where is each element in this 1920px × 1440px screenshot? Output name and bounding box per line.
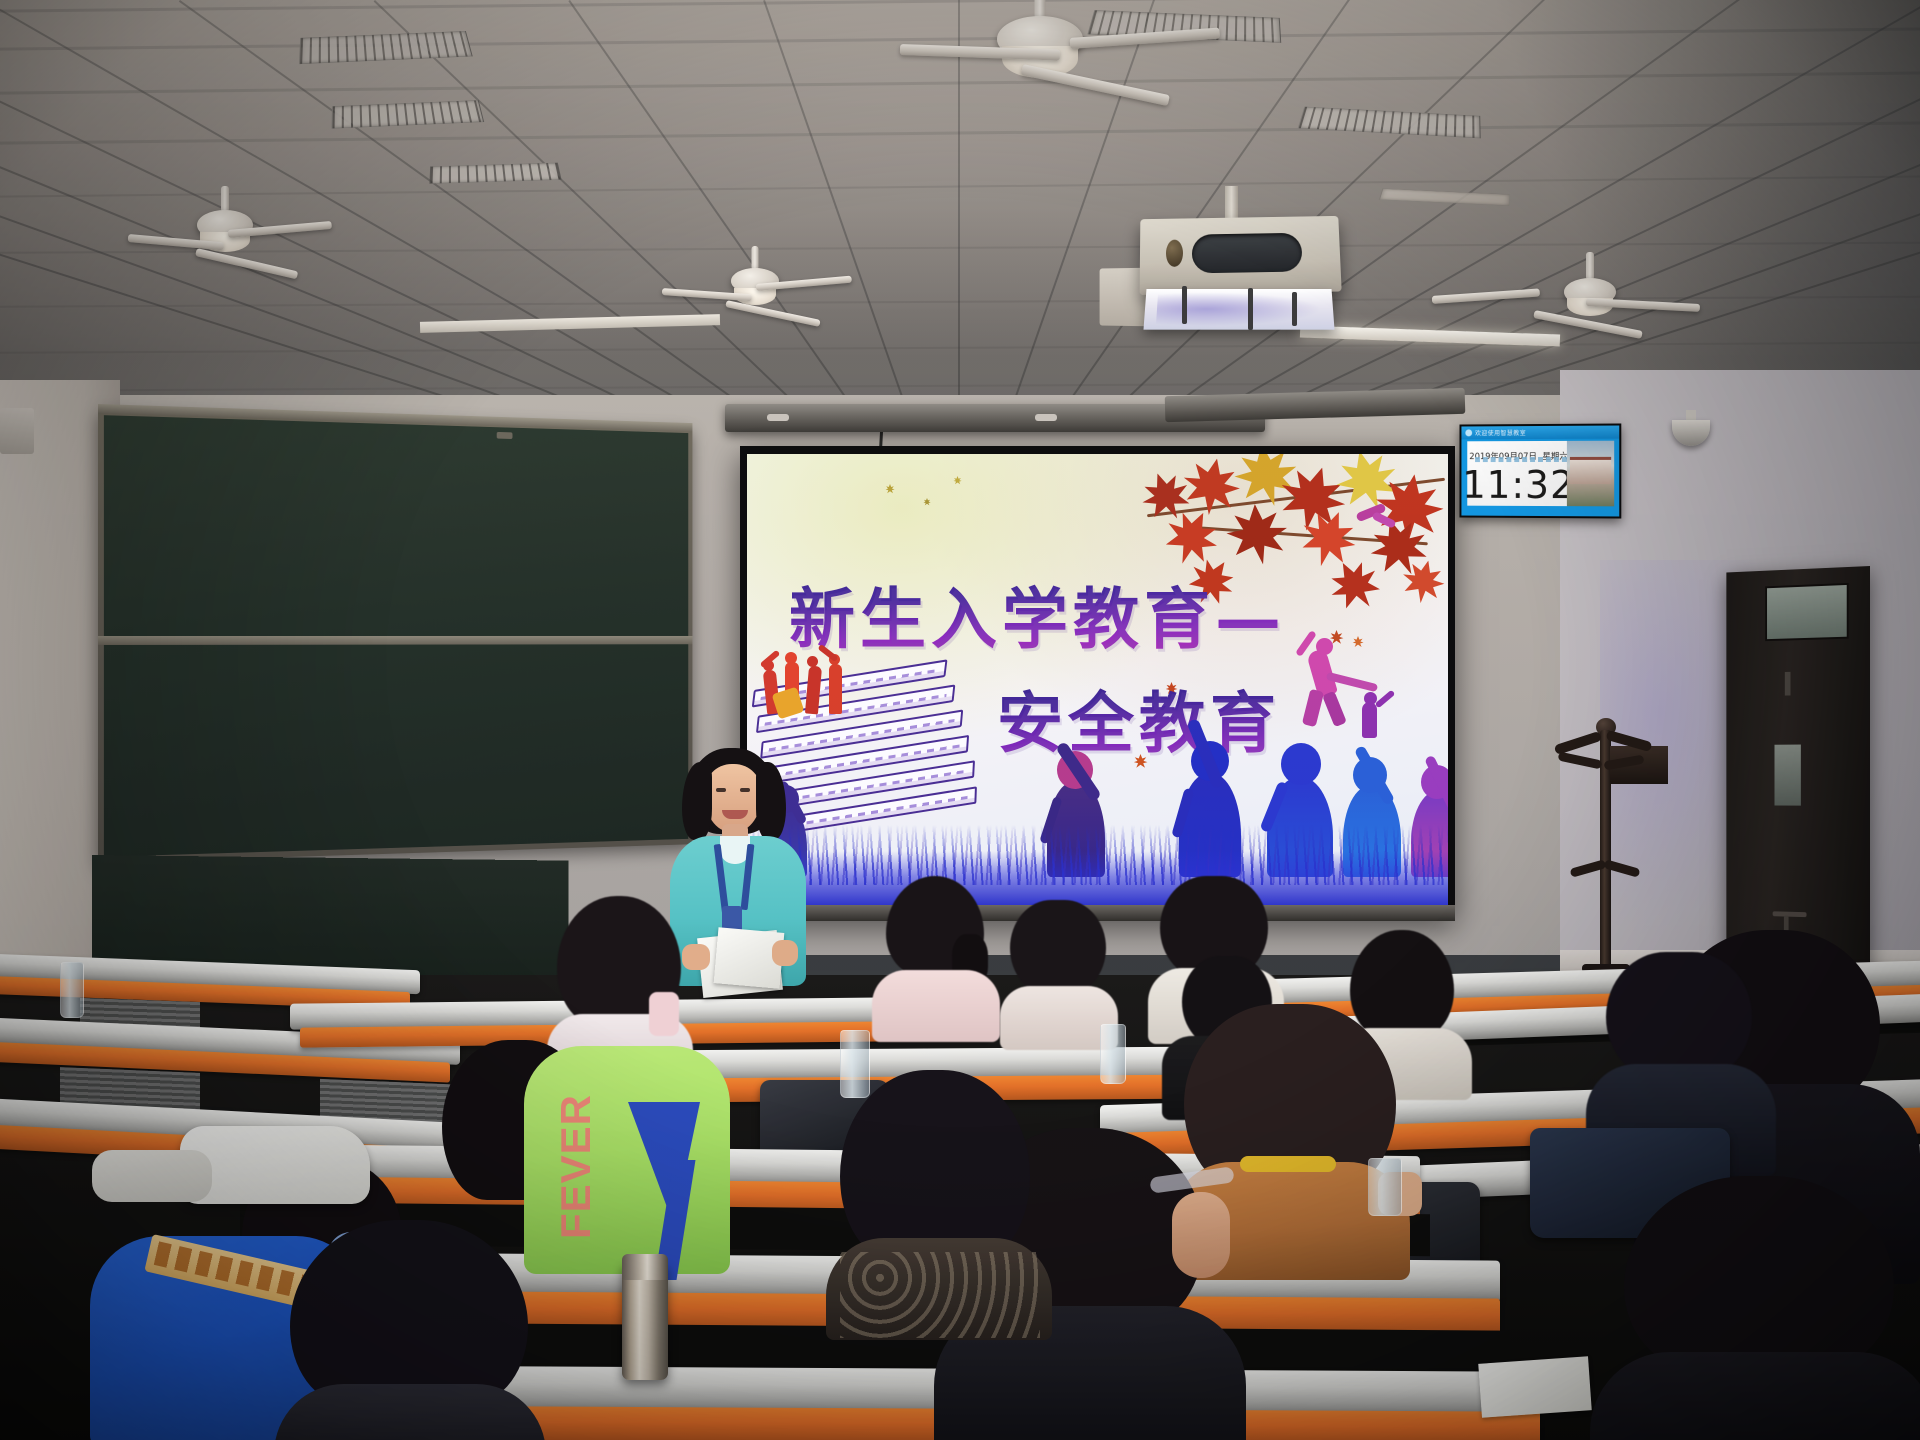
display-ticker	[1475, 457, 1574, 462]
display-photo	[1567, 441, 1614, 507]
projector-pole	[1225, 186, 1238, 220]
projector-lens-icon	[1166, 240, 1183, 267]
projector-vent-window	[1192, 233, 1303, 274]
projector-body	[1143, 289, 1334, 330]
display-logo-icon	[1465, 429, 1472, 436]
chalkboard-clip	[497, 432, 513, 439]
door-hinge	[1785, 672, 1791, 696]
small-leaf	[953, 476, 962, 485]
chalkboard	[98, 408, 692, 863]
door-viewport-panel	[1775, 745, 1801, 806]
student-top	[274, 1384, 546, 1440]
pink-bird-figure	[1346, 494, 1408, 560]
door-handle[interactable]	[1773, 911, 1807, 917]
ceiling-fan	[870, 0, 1210, 80]
slide-title-line-1: 新生入学教育—	[789, 566, 1286, 662]
display-clock-panel: 2019年09月07日 星期六 11:32	[1467, 441, 1570, 506]
floral-pattern	[840, 1252, 1040, 1338]
projector-bracket	[1182, 286, 1187, 324]
water-bottle	[1100, 1024, 1126, 1084]
student-ear-face	[1172, 1192, 1230, 1278]
projector-housing	[1140, 216, 1342, 295]
presenter-hand	[772, 940, 798, 966]
display-header-text: 欢迎使用智慧教室	[1475, 428, 1526, 437]
projector-bracket	[1248, 288, 1253, 330]
red-figures-illustration	[761, 650, 871, 720]
ceiling-fan	[100, 190, 350, 270]
small-leaf	[923, 498, 931, 506]
display-time: 11:32	[1462, 466, 1575, 504]
student-bottom-right	[1600, 1176, 1920, 1440]
presentation-slide: 新生入学教育— 安全教育	[747, 454, 1448, 907]
water-bottle	[60, 962, 84, 1018]
student-top	[1590, 1352, 1920, 1440]
student-top	[872, 970, 1000, 1042]
wall-speaker-icon	[0, 408, 34, 454]
student-silhouettes	[747, 722, 1448, 907]
door-transom-window	[1765, 583, 1848, 641]
display-header: 欢迎使用智慧教室	[1461, 426, 1619, 440]
coat-hook	[1558, 752, 1603, 770]
projection-screen: 新生入学教育— 安全教育	[740, 446, 1455, 916]
handout-papers	[1478, 1356, 1591, 1418]
chalkboard-rail	[98, 636, 692, 645]
ceiling-fan	[640, 252, 870, 322]
student-bottom-left	[290, 1220, 540, 1440]
yellow-lanyard	[1240, 1156, 1336, 1172]
ceiling-fan	[1470, 262, 1710, 332]
classroom-photo: 新生入学教育— 安全教育	[0, 0, 1920, 1440]
student-ponytail	[872, 876, 1002, 1036]
projector-bracket	[1292, 292, 1297, 326]
white-jacket	[92, 1150, 212, 1202]
small-leaf	[885, 484, 895, 494]
thermos-cap	[622, 1254, 668, 1280]
shirt-text: FEVER	[552, 1094, 600, 1239]
student-patterned-top	[830, 1070, 1050, 1320]
digital-info-display[interactable]: 欢迎使用智慧教室 2019年09月07日 星期六 11:32	[1459, 423, 1621, 518]
ceiling-right-shadow	[1360, 0, 1920, 420]
water-bottle	[1368, 1158, 1402, 1216]
